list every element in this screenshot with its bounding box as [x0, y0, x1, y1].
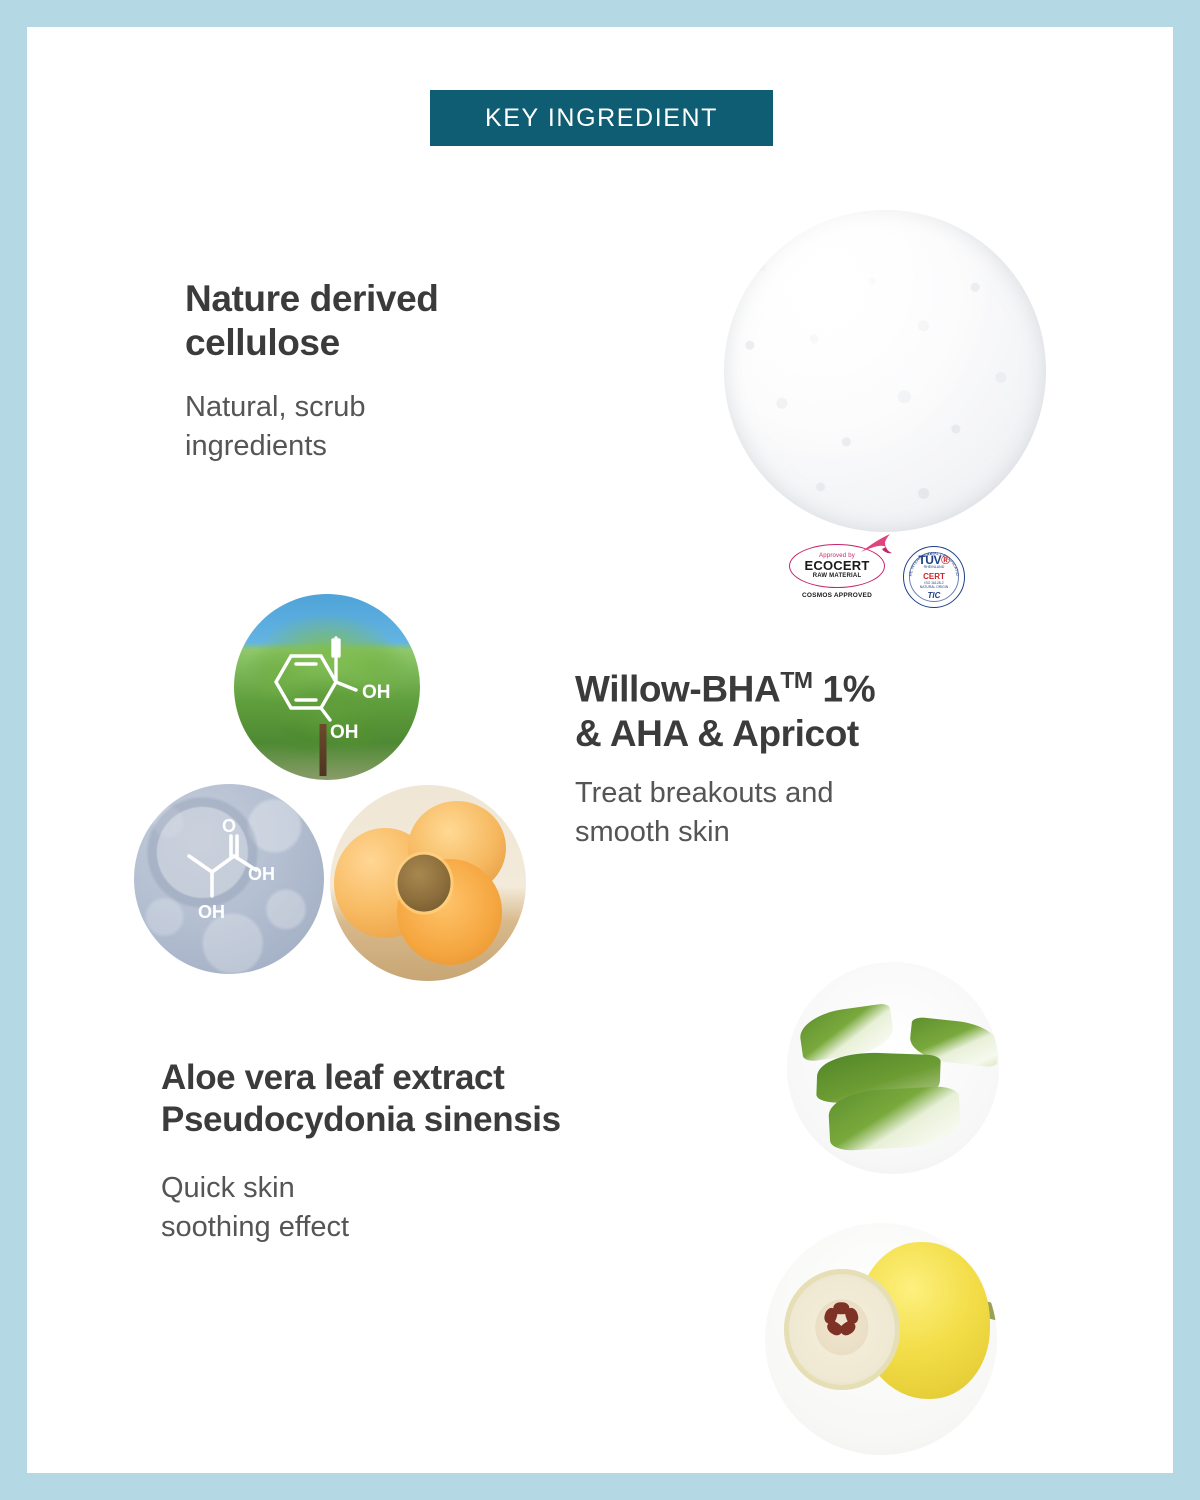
bha-trademark-symbol: TM	[780, 667, 812, 693]
molecule-label-oh-1: OH	[362, 682, 391, 703]
section-aloe-quince-text: Aloe vera leaf extract Pseudocydonia sin…	[161, 1057, 761, 1247]
tuv-cert-badge: THE INTERNATIONAL CERTIFICATION TÜV® RHE…	[903, 546, 965, 608]
salicylic-acid-molecule-icon: OH OH	[234, 594, 420, 780]
aloe-slice-4	[828, 1086, 962, 1152]
ecocert-qualifier-label: RAW MATERIAL	[813, 573, 862, 579]
ecocert-bird-icon	[859, 533, 893, 557]
cellulose-heading: Nature derived cellulose	[185, 277, 605, 366]
infographic-page: KEY INGREDIENT Nature derived cellulose …	[0, 0, 1200, 1500]
bha-heading-part1: Willow-BHA	[575, 668, 780, 709]
powder-highlight	[724, 210, 1046, 532]
tuv-footer-label: TIC	[928, 592, 941, 600]
quince-core	[815, 1300, 868, 1355]
bha-heading-part2: 1%	[813, 668, 876, 709]
ecocert-name-label: ECOCERT	[805, 559, 870, 573]
tuv-detail-label: ISO 16128-2NATURAL ORIGIN	[920, 581, 948, 590]
cellulose-subtext: Natural, scrub ingredients	[185, 388, 605, 466]
banner-label: KEY INGREDIENT	[485, 104, 718, 133]
aloe-heading: Aloe vera leaf extract Pseudocydonia sin…	[161, 1057, 761, 1141]
aha-gel-image: O OH OH	[134, 784, 324, 974]
molecule-label-o: O	[222, 816, 236, 836]
tuv-cert-label: CERT	[923, 573, 945, 581]
ecocert-oval: Approved by ECOCERT RAW MATERIAL	[789, 544, 885, 588]
molecule-label-oh-2: OH	[330, 722, 359, 743]
key-ingredient-banner: KEY INGREDIENT	[430, 90, 773, 146]
certification-badges: Approved by ECOCERT RAW MATERIAL COSMOS …	[783, 541, 993, 613]
apricot-image	[330, 785, 526, 981]
ecocert-badge: Approved by ECOCERT RAW MATERIAL COSMOS …	[783, 544, 891, 610]
bha-heading: Willow-BHATM 1%& AHA & Apricot	[575, 667, 1015, 756]
apricot-pit	[398, 855, 451, 912]
willow-tree-image: OH OH	[234, 594, 420, 780]
quince-image	[765, 1223, 997, 1455]
molecule-label-oh-1: OH	[248, 864, 275, 884]
section-willow-bha-text: Willow-BHATM 1%& AHA & Apricot Treat bre…	[575, 667, 1015, 852]
bha-subtext: Treat breakouts and smooth skin	[575, 774, 1015, 852]
aloe-subtext: Quick skin soothing effect	[161, 1169, 761, 1247]
ecocert-footer-label: COSMOS APPROVED	[802, 592, 872, 599]
lactic-acid-molecule-icon: O OH OH	[134, 784, 324, 974]
bha-heading-line2: & AHA & Apricot	[575, 713, 859, 754]
section-cellulose-text: Nature derived cellulose Natural, scrub …	[185, 277, 605, 466]
content-canvas: KEY INGREDIENT Nature derived cellulose …	[27, 27, 1173, 1473]
tuv-logo-sublabel: RHEINLAND	[924, 566, 945, 570]
molecule-label-oh-2: OH	[198, 902, 225, 922]
aloe-vera-image	[787, 962, 999, 1174]
cellulose-powder-image	[724, 210, 1046, 532]
quince-half-fruit	[784, 1269, 900, 1390]
